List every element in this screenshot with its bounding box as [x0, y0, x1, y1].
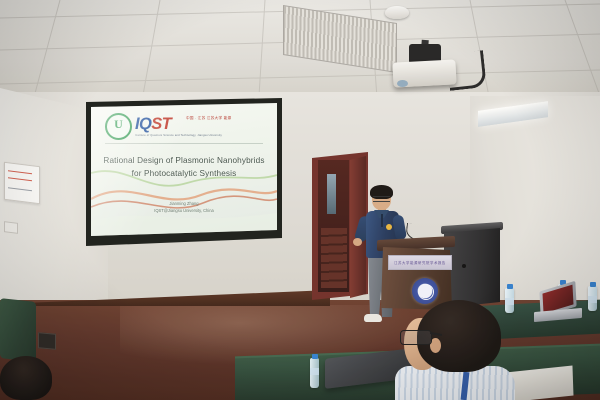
water-bottle: [310, 358, 319, 388]
hallway-stairs: [321, 228, 347, 288]
speaker-shirt-logo: [386, 224, 392, 230]
water-bottle: [588, 286, 597, 311]
speaker-left-hand: [353, 238, 362, 246]
smoke-detector-icon: [385, 6, 409, 19]
university-emblem-icon: [412, 278, 438, 304]
slide-glare: [91, 103, 277, 236]
audience-left-head: [0, 356, 52, 400]
wall-notice-poster: [4, 162, 40, 204]
photograph-scene: IQST 中国 . 江苏 江苏大学 能源 Institute of Quantu…: [0, 0, 600, 400]
projector-lens-icon: [397, 80, 408, 87]
presentation-slide: IQST 中国 . 江苏 江苏大学 能源 Institute of Quantu…: [91, 103, 277, 236]
podium-nameplate: 江苏大学能源研究院学术报告: [388, 255, 452, 270]
chair-back: [0, 298, 36, 362]
door-window-glass: [327, 174, 336, 214]
water-bottle: [505, 288, 514, 313]
eyeglasses-icon: [400, 330, 432, 345]
podium-nameplate-text: 江苏大学能源研究院学术报告: [389, 260, 451, 265]
speaker-shirt-placket: [381, 214, 383, 227]
cabinet-lock-icon: [462, 264, 466, 268]
light-switch[interactable]: [4, 221, 18, 234]
floor-outlet-box: [38, 332, 56, 350]
speaker-shoe: [364, 314, 382, 322]
eyeglasses-icon: [373, 196, 390, 202]
